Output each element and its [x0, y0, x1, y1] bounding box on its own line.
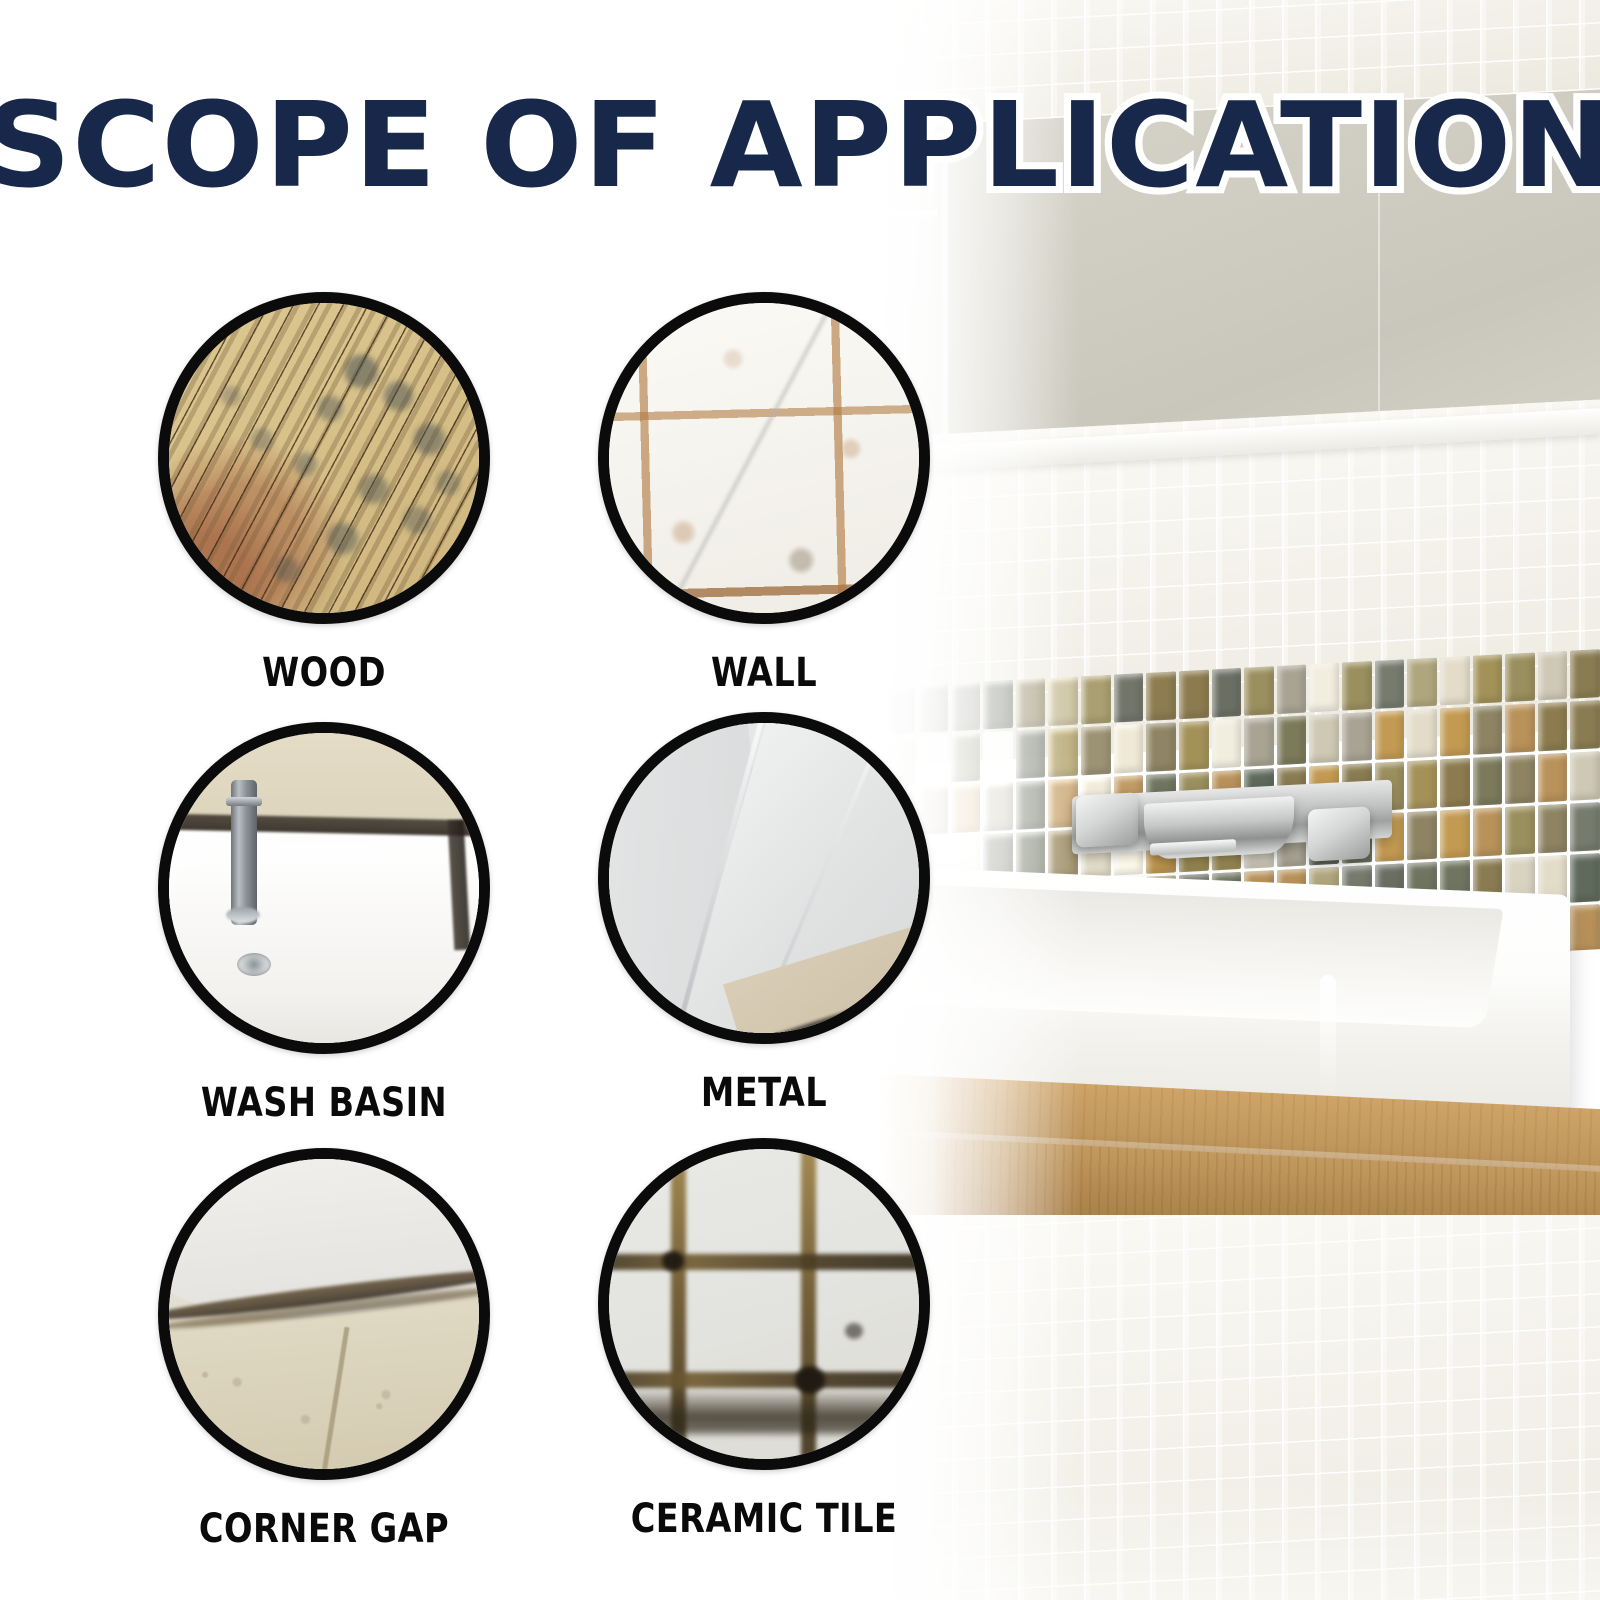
mosaic-tile: [1440, 656, 1470, 706]
mosaic-tile: [983, 782, 1013, 832]
wall-circle[interactable]: [598, 292, 930, 624]
metal-panel-photo: [609, 723, 919, 1033]
corner-gap-label: CORNER GAP: [185, 1506, 464, 1552]
page-title: SCOPE OF APPLICATION: [0, 86, 1576, 204]
item-ceramic-tile[interactable]: CERAMIC TILE: [598, 1138, 930, 1542]
mosaic-tile: [1505, 704, 1535, 754]
wall-label: WALL: [625, 650, 904, 696]
ceramic-tile-circle[interactable]: [598, 1138, 930, 1470]
wash-basin-label: WASH BASIN: [185, 1080, 464, 1126]
mosaic-tile: [1277, 665, 1307, 715]
item-corner-gap[interactable]: CORNER GAP: [158, 1148, 490, 1552]
mosaic-tile: [1309, 663, 1339, 713]
mosaic-tile: [1407, 658, 1437, 708]
mosaic-tile: [1342, 712, 1372, 762]
mosaic-tile: [1440, 707, 1470, 757]
mosaic-tile: [1277, 716, 1307, 766]
wall-tile-photo: [609, 303, 919, 613]
mosaic-tile: [1407, 760, 1437, 810]
mosaic-tile: [1407, 709, 1437, 759]
mosaic-tile: [1048, 676, 1078, 726]
faucet-handle-left: [1076, 792, 1138, 847]
mosaic-tile: [1538, 804, 1568, 854]
mosaic-tile: [1016, 678, 1046, 728]
mosaic-tile: [1407, 811, 1437, 861]
mosaic-tile: [983, 731, 1013, 781]
bathroom-vanity-photo: [820, 0, 1600, 1600]
wood-label: WOOD: [185, 650, 464, 696]
mosaic-tile: [1538, 753, 1568, 803]
mosaic-tile: [951, 682, 981, 732]
corner-gap-circle[interactable]: [158, 1148, 490, 1480]
mosaic-tile: [1244, 666, 1274, 716]
mosaic-tile: [1505, 755, 1535, 805]
mosaic-tile: [1375, 710, 1405, 760]
mosaic-tile: [951, 784, 981, 834]
mosaic-tile: [1570, 751, 1600, 801]
mosaic-tile: [1570, 853, 1600, 903]
mosaic-tile: [1473, 705, 1503, 755]
ceramic-tile-photo: [609, 1149, 919, 1459]
mosaic-tile: [1016, 780, 1046, 830]
faucet-icon: [231, 780, 257, 926]
mosaic-tile: [1440, 809, 1470, 859]
mosaic-tile: [1570, 802, 1600, 852]
faucet-spout: [1144, 796, 1294, 860]
white-mosaic-top: [820, 0, 1600, 470]
mosaic-tile: [983, 680, 1013, 730]
infographic-canvas: SCOPE OF APPLICATION WOOD WALL WASH BASI…: [0, 0, 1600, 1600]
item-wash-basin[interactable]: WASH BASIN: [158, 722, 490, 1126]
metal-label: METAL: [625, 1070, 904, 1116]
item-metal[interactable]: METAL: [598, 712, 930, 1116]
mosaic-tile: [1146, 671, 1176, 721]
mosaic-tile: [1440, 758, 1470, 808]
item-wood[interactable]: WOOD: [158, 292, 490, 696]
wood-circle[interactable]: [158, 292, 490, 624]
mosaic-tile: [1179, 670, 1209, 720]
mosaic-tile: [1473, 807, 1503, 857]
item-wall[interactable]: WALL: [598, 292, 930, 696]
mosaic-tile: [1570, 904, 1600, 954]
mosaic-tile: [1473, 654, 1503, 704]
mosaic-tile: [1505, 806, 1535, 856]
mosaic-tile: [1570, 700, 1600, 750]
mosaic-tile: [1114, 673, 1144, 723]
mosaic-tile: [1375, 659, 1405, 709]
ceramic-tile-label: CERAMIC TILE: [625, 1496, 904, 1542]
mosaic-tile: [1538, 651, 1568, 701]
faucet-handle-right: [1308, 806, 1370, 861]
mosaic-tile: [1212, 668, 1242, 718]
mosaic-tile: [1570, 649, 1600, 699]
mosaic-tile: [1309, 714, 1339, 764]
wash-basin-photo: [169, 733, 479, 1043]
white-mosaic-bottom: [820, 1215, 1600, 1600]
corner-gap-photo: [169, 1159, 479, 1469]
mosaic-tile: [1570, 955, 1600, 990]
mosaic-tile: [1016, 729, 1046, 779]
wash-basin-circle[interactable]: [158, 722, 490, 1054]
mosaic-tile: [1505, 653, 1535, 703]
wood-surface-photo: [169, 303, 479, 613]
mosaic-tile: [951, 733, 981, 783]
mosaic-tile: [1538, 702, 1568, 752]
chrome-faucet: [1072, 760, 1392, 870]
mosaic-tile: [1342, 661, 1372, 711]
mosaic-tile: [1473, 756, 1503, 806]
metal-circle[interactable]: [598, 712, 930, 1044]
mosaic-tile: [1081, 675, 1111, 725]
